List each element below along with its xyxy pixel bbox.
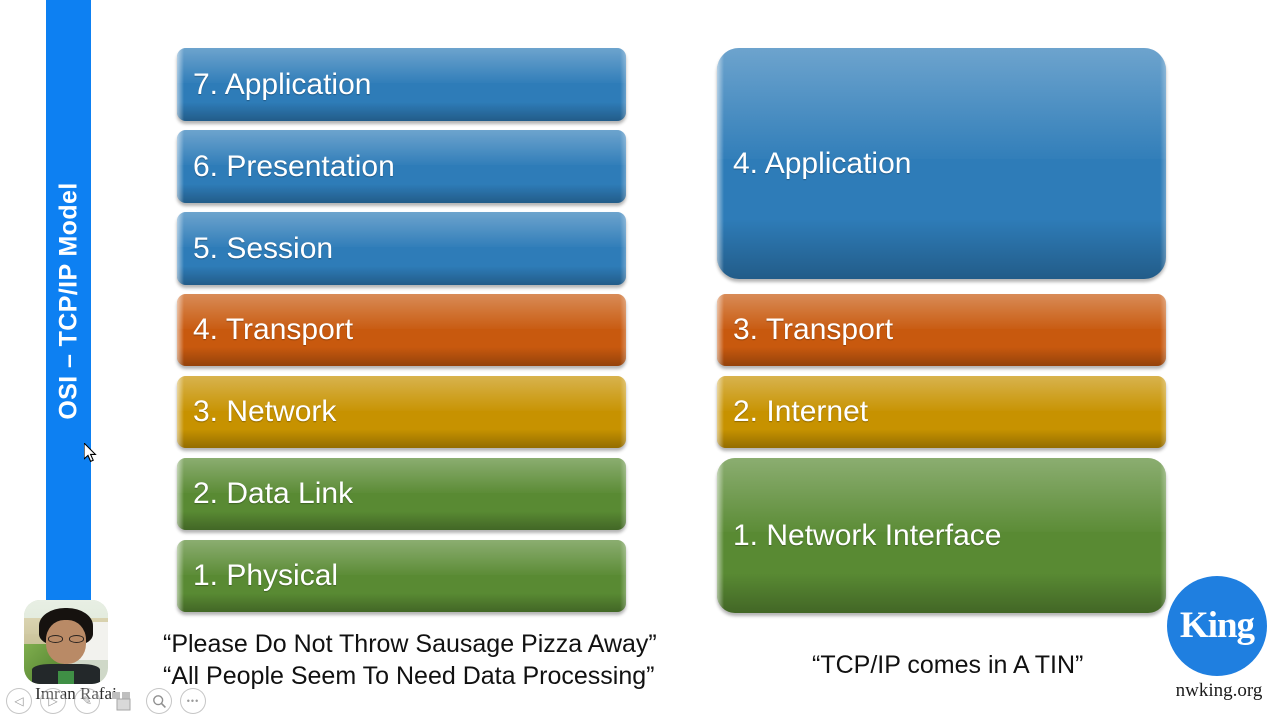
bevel-left-edge: [177, 458, 184, 530]
bevel-right-edge: [1160, 458, 1166, 613]
bevel-right-edge: [1160, 294, 1166, 366]
osi-layer-3[interactable]: 3. Network: [177, 376, 626, 448]
more-options-glyph: •••: [187, 696, 199, 706]
all-slides-icon[interactable]: [108, 688, 138, 714]
bevel-right-edge: [1160, 376, 1166, 448]
osi-layer-2[interactable]: 2. Data Link: [177, 458, 626, 530]
osi-layer-7-label: 7. Application: [193, 70, 371, 100]
tcpip-layer-1-label: 1. Network Interface: [733, 521, 1001, 551]
slideshow-control-bar[interactable]: ◁ ▷ ✎ •••: [6, 688, 206, 714]
bevel-left-edge: [177, 376, 184, 448]
tcpip-layer-3-label: 3. Transport: [733, 315, 893, 345]
tcpip-layer-3-transport[interactable]: 3. Transport: [717, 294, 1166, 366]
previous-slide-icon[interactable]: ◁: [6, 688, 32, 714]
osi-layer-1-label: 1. Physical: [193, 561, 338, 591]
tcpip-layer-4-label: 4. Application: [733, 149, 911, 179]
zoom-in-icon[interactable]: [146, 688, 172, 714]
osi-layer-6[interactable]: 6. Presentation: [177, 130, 626, 203]
bevel-left-edge: [717, 294, 724, 366]
vertical-title-band: OSI – TCP/IP Model: [46, 0, 91, 601]
osi-layer-2-label: 2. Data Link: [193, 479, 353, 509]
osi-layer-1[interactable]: 1. Physical: [177, 540, 626, 612]
pen-tools-icon[interactable]: ✎: [74, 688, 100, 714]
osi-mnemonic-line-1: “Please Do Not Throw Sausage Pizza Away”: [163, 628, 657, 660]
bevel-right-edge: [620, 376, 626, 448]
tcpip-mnemonic: “TCP/IP comes in A TIN”: [812, 649, 1083, 681]
osi-layer-7[interactable]: 7. Application: [177, 48, 626, 121]
bevel-right-edge: [1160, 48, 1166, 279]
tcpip-layer-4-application[interactable]: 4. Application: [717, 48, 1166, 279]
osi-mnemonic-line-2: “All People Seem To Need Data Processing…: [163, 660, 654, 692]
bevel-left-edge: [177, 212, 184, 285]
bevel-right-edge: [620, 458, 626, 530]
next-slide-icon[interactable]: ▷: [40, 688, 66, 714]
bevel-right-edge: [620, 130, 626, 203]
presenter-avatar: [24, 600, 108, 684]
bevel-left-edge: [177, 294, 184, 366]
avatar-collar: [58, 671, 75, 684]
osi-layer-3-label: 3. Network: [193, 397, 336, 427]
osi-layer-5-label: 5. Session: [193, 234, 333, 264]
bevel-right-edge: [620, 48, 626, 121]
vertical-title-text: OSI – TCP/IP Model: [54, 182, 83, 419]
bevel-right-edge: [620, 294, 626, 366]
tcpip-layer-1-network-interface[interactable]: 1. Network Interface: [717, 458, 1166, 613]
bevel-left-edge: [177, 130, 184, 203]
bevel-left-edge: [717, 376, 724, 448]
avatar-glasses: [48, 635, 85, 643]
bevel-right-edge: [620, 540, 626, 612]
nwking-logo-text: King: [1180, 607, 1254, 644]
more-options-icon[interactable]: •••: [180, 688, 206, 714]
bevel-left-edge: [717, 48, 724, 279]
previous-slide-glyph: ◁: [14, 694, 23, 708]
slide-canvas: OSI – TCP/IP Model 7. Application 6. Pre…: [0, 0, 1278, 720]
bevel-right-edge: [620, 212, 626, 285]
tcpip-layer-2-label: 2. Internet: [733, 397, 868, 427]
bevel-left-edge: [177, 540, 184, 612]
bevel-left-edge: [177, 48, 184, 121]
bevel-left-edge: [717, 458, 724, 613]
osi-layer-6-label: 6. Presentation: [193, 152, 395, 182]
pen-glyph: ✎: [82, 694, 92, 708]
nwking-logo[interactable]: King: [1167, 576, 1267, 676]
osi-layer-4[interactable]: 4. Transport: [177, 294, 626, 366]
osi-layer-5[interactable]: 5. Session: [177, 212, 626, 285]
osi-layer-4-label: 4. Transport: [193, 315, 353, 345]
nwking-site-url: nwking.org: [1160, 680, 1278, 702]
tcpip-layer-2-internet[interactable]: 2. Internet: [717, 376, 1166, 448]
next-slide-glyph: ▷: [48, 694, 57, 708]
